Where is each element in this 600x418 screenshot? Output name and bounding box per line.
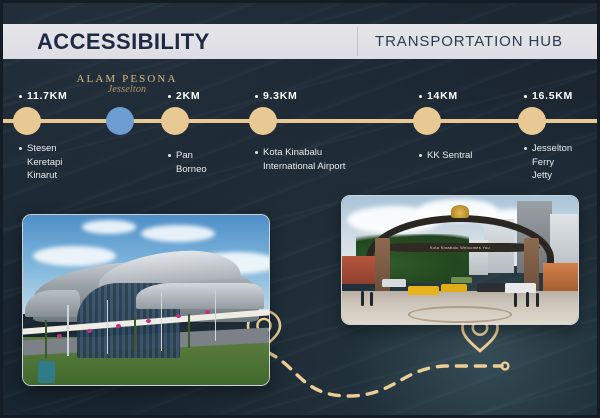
- place-line: Jesselton: [532, 143, 572, 154]
- shophouse: [342, 256, 375, 284]
- distance-label-6: 16.5KM: [524, 90, 573, 102]
- timeline-node-current[interactable]: [106, 107, 134, 135]
- timeline-node-6[interactable]: [518, 107, 546, 135]
- distance-label-3: 2KM: [168, 90, 200, 102]
- flower-planter: [87, 329, 92, 333]
- place-line: Kota Kinabalu: [263, 147, 322, 158]
- photo-city-gateway[interactable]: Kota Kinabalu Welcomes You: [341, 195, 579, 325]
- place-label-3: Pan Borneo: [168, 149, 238, 176]
- car: [477, 283, 505, 292]
- bullet-dot-icon: [419, 95, 422, 98]
- palm-tree: [45, 320, 47, 357]
- cloud: [33, 246, 117, 266]
- lamp-post: [215, 290, 216, 341]
- pedestrian: [536, 293, 539, 307]
- bus: [451, 277, 472, 283]
- place-label-6: Jesselton Ferry Jetty: [524, 142, 594, 183]
- place-line: Jetty: [532, 170, 552, 181]
- place-line: Stesen: [27, 143, 57, 154]
- bullet-dot-icon: [255, 95, 258, 98]
- palm-tree: [134, 317, 136, 351]
- arch-finial-ornament: [451, 205, 470, 218]
- distance-label-1: 11.7KM: [19, 90, 67, 102]
- distance-value: 11.7KM: [27, 90, 67, 102]
- distance-label-5: 14KM: [419, 90, 458, 102]
- place-line: Borneo: [176, 164, 207, 175]
- shophouse: [543, 263, 578, 294]
- bullet-dot-icon: [168, 154, 171, 157]
- timeline-node-1[interactable]: [13, 107, 41, 135]
- taxi: [441, 284, 467, 292]
- route-end-dot: [502, 363, 509, 370]
- flower-planter: [146, 319, 151, 323]
- lamp-post: [161, 293, 162, 351]
- distance-value: 9.3KM: [263, 90, 297, 102]
- flower-planter: [176, 314, 181, 318]
- bullet-dot-icon: [19, 147, 22, 150]
- distance-value: 16.5KM: [532, 90, 573, 102]
- taxi: [408, 286, 439, 295]
- place-label-1: Stesen Keretapi Kinarut: [19, 142, 89, 183]
- bullet-dot-icon: [524, 147, 527, 150]
- lamp-post: [107, 300, 108, 354]
- dashed-route-line: [267, 352, 502, 396]
- header-band: ACCESSIBILITY TRANSPORTATION HUB: [0, 24, 600, 59]
- header-subtitle: TRANSPORTATION HUB: [375, 33, 563, 50]
- pedestrian: [370, 292, 373, 306]
- bullet-dot-icon: [19, 95, 22, 98]
- place-label-4: Kota Kinabalu International Airport: [255, 146, 380, 173]
- cloud: [82, 220, 136, 234]
- timeline-node-3[interactable]: [161, 107, 189, 135]
- timeline-node-4[interactable]: [249, 107, 277, 135]
- arch-sign-text: Kota Kinabalu Welcomes You: [403, 245, 516, 250]
- place-line: International Airport: [263, 161, 345, 172]
- poster-canvas: ACCESSIBILITY TRANSPORTATION HUB ALAM PE…: [0, 0, 600, 418]
- distance-value: 14KM: [427, 90, 458, 102]
- van: [505, 283, 536, 293]
- place-line: Keretapi: [27, 157, 62, 168]
- bullet-dot-icon: [419, 154, 422, 157]
- bullet-dot-icon: [168, 95, 171, 98]
- timeline-node-5[interactable]: [413, 107, 441, 135]
- place-line: Kinarut: [27, 170, 57, 181]
- palm-tree: [188, 314, 190, 348]
- place-line: Ferry: [532, 157, 554, 168]
- photo-terminal-canopy: [136, 283, 264, 309]
- distance-value: 2KM: [176, 90, 200, 102]
- place-label-5: KK Sentral: [419, 149, 509, 163]
- pedestrian: [526, 292, 529, 307]
- pedestrian: [514, 293, 517, 307]
- plaza-pattern: [408, 306, 512, 323]
- place-line: Pan: [176, 150, 193, 161]
- foreground-object: [38, 361, 55, 383]
- distance-label-4: 9.3KM: [255, 90, 297, 102]
- page-title: ACCESSIBILITY: [37, 29, 210, 55]
- lamp-post: [67, 305, 68, 356]
- header-divider: [357, 27, 358, 56]
- transport-timeline: 11.7KM 2KM 9.3KM 14KM 16.5KM Stesen Kere…: [0, 70, 600, 190]
- place-line: KK Sentral: [427, 149, 472, 163]
- van: [382, 279, 406, 287]
- photo-airport-terminal[interactable]: [22, 214, 270, 386]
- bullet-dot-icon: [524, 95, 527, 98]
- pedestrian: [361, 291, 364, 306]
- bullet-dot-icon: [255, 151, 258, 154]
- timeline-rail: [0, 119, 600, 123]
